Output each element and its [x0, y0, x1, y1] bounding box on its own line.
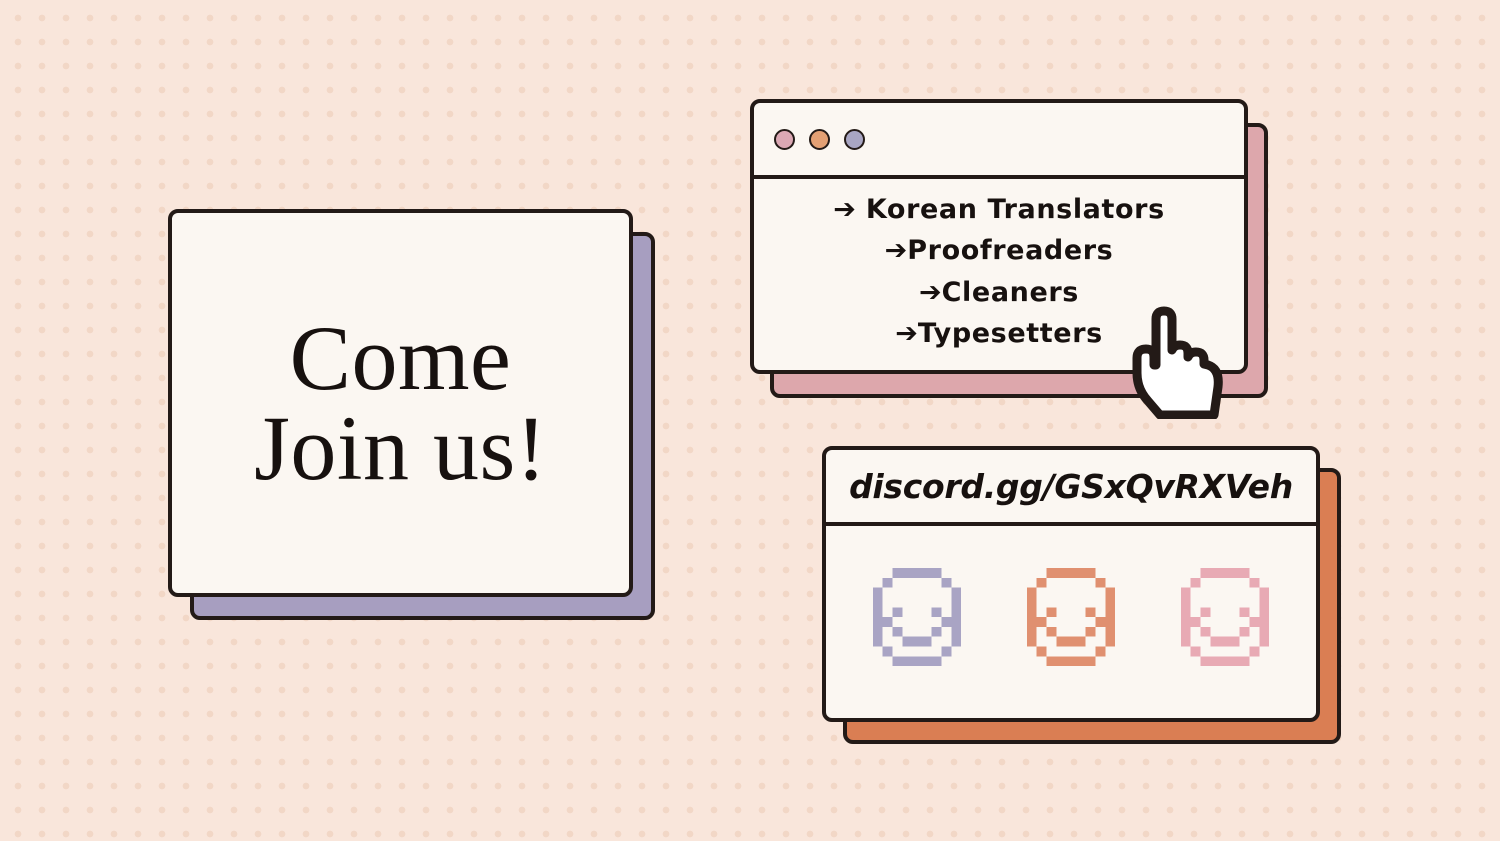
poster-canvas: Come Join us! ➔Korean Translators ➔Proof… — [0, 0, 1500, 841]
role-label: Proofreaders — [907, 235, 1113, 266]
role-label: Cleaners — [942, 277, 1079, 308]
role-item-proofreaders: ➔Proofreaders — [885, 230, 1114, 271]
roles-window-titlebar — [754, 103, 1244, 179]
pointing-hand-cursor-icon — [1132, 303, 1228, 419]
join-headline: Come Join us! — [254, 313, 547, 493]
arrow-right-icon: ➔ — [833, 194, 856, 225]
discord-invite-panel: discord.gg/GSxQvRXVeh — [822, 446, 1320, 722]
role-item-cleaners: ➔Cleaners — [919, 272, 1079, 313]
arrow-right-icon: ➔ — [919, 277, 942, 308]
role-label: Korean Translators — [866, 194, 1165, 225]
come-join-us-card: Come Join us! — [168, 209, 633, 597]
discord-url-bar[interactable]: discord.gg/GSxQvRXVeh — [826, 450, 1316, 526]
smiley-face-orange-icon — [1017, 568, 1125, 676]
window-dot-minimize-icon[interactable] — [809, 129, 830, 150]
window-dot-close-icon[interactable] — [774, 129, 795, 150]
join-headline-line-1: Come — [254, 313, 547, 403]
arrow-right-icon: ➔ — [885, 235, 908, 266]
discord-invite-url[interactable]: discord.gg/GSxQvRXVeh — [849, 467, 1293, 506]
smiley-row — [826, 526, 1316, 718]
join-headline-line-2: Join us! — [254, 403, 547, 493]
smiley-face-pink-icon — [1171, 568, 1279, 676]
role-label: Typesetters — [918, 318, 1103, 349]
role-item-typesetters: ➔Typesetters — [895, 313, 1103, 354]
role-item-korean-translators: ➔Korean Translators — [833, 189, 1165, 230]
arrow-right-icon: ➔ — [895, 318, 918, 349]
window-dot-maximize-icon[interactable] — [844, 129, 865, 150]
smiley-face-purple-icon — [863, 568, 971, 676]
